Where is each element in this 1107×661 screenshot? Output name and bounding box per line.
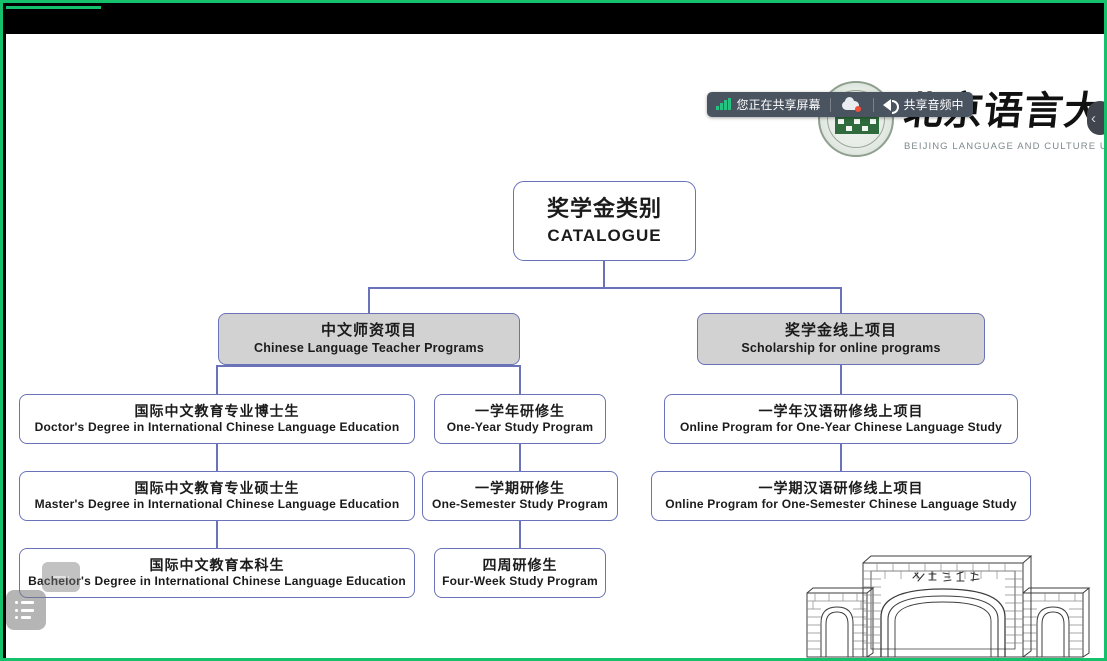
node-title-en: Bachelor's Degree in International Chine… — [28, 575, 406, 589]
node-title-cn: 奖学金类别 — [547, 197, 662, 222]
node-scholarship-online-programs[interactable]: 奖学金线上项目 Scholarship for online programs — [697, 313, 985, 365]
node-title-en: Online Program for One-Year Chinese Lang… — [680, 421, 1002, 435]
node-title-cn: 国际中文教育专业博士生 — [135, 404, 300, 420]
list-row-2 — [15, 609, 37, 612]
list-view-icon[interactable] — [6, 590, 46, 630]
node-online-one-year-program[interactable]: 一学年汉语研修线上项目 Online Program for One-Year … — [664, 394, 1018, 444]
speaker-icon — [883, 99, 898, 111]
list-row-3 — [15, 616, 37, 619]
black-top-bar — [6, 6, 1107, 34]
logo-name-en: BEIJING LANGUAGE AND CULTURE UNIVERSITY — [904, 141, 1104, 152]
share-indicator-segment — [6, 6, 101, 9]
node-title-cn: 国际中文教育本科生 — [150, 558, 285, 574]
node-title-cn: 一学年汉语研修线上项目 — [759, 404, 924, 420]
connector-teacher-left-top — [216, 365, 370, 367]
node-title-cn: 中文师资项目 — [321, 322, 417, 339]
node-title-en: Master's Degree in International Chinese… — [35, 498, 400, 512]
node-chinese-language-teacher-programs[interactable]: 中文师资项目 Chinese Language Teacher Programs — [218, 313, 520, 365]
signal-bars-icon — [716, 99, 731, 110]
share-screen-label: 您正在共享屏幕 — [737, 96, 821, 113]
chevron-left-icon: ‹ — [1091, 110, 1096, 127]
node-title-en: CATALOGUE — [547, 226, 661, 246]
connector-to-teacher — [368, 287, 370, 314]
node-title-en: Doctor's Degree in International Chinese… — [35, 421, 400, 435]
node-title-en: Scholarship for online programs — [741, 341, 940, 355]
collapse-panel-button[interactable]: ‹ — [1087, 101, 1107, 135]
node-catalogue-root[interactable]: 奖学金类别 CATALOGUE — [513, 181, 696, 261]
connector-teacher-mid-top — [368, 365, 521, 367]
node-title-en: One-Year Study Program — [447, 421, 593, 435]
artifact-line — [53, 576, 69, 578]
share-audio-status[interactable]: 共享音频中 — [874, 92, 973, 117]
node-title-cn: 国际中文教育专业硕士生 — [135, 481, 300, 497]
share-screen-status[interactable]: 您正在共享屏幕 — [707, 92, 830, 117]
list-row-1 — [15, 601, 37, 604]
node-masters-degree[interactable]: 国际中文教育专业硕士生 Master's Degree in Internati… — [19, 471, 415, 521]
connector-to-online — [840, 287, 842, 314]
node-one-semester-study-program[interactable]: 一学期研修生 One-Semester Study Program — [422, 471, 618, 521]
node-title-cn: 一学期汉语研修线上项目 — [759, 481, 924, 497]
node-title-cn: 一学年研修生 — [475, 404, 565, 420]
cloud-recording-indicator[interactable] — [831, 92, 873, 117]
node-online-one-semester-program[interactable]: 一学期汉语研修线上项目 Online Program for One-Semes… — [651, 471, 1031, 521]
screen-share-frame: 北京语言大学 BEIJING LANGUAGE AND CULTURE UNIV… — [0, 0, 1107, 661]
presentation-slide: 北京语言大学 BEIJING LANGUAGE AND CULTURE UNIV… — [6, 34, 1107, 661]
node-doctors-degree[interactable]: 国际中文教育专业博士生 Doctor's Degree in Internati… — [19, 394, 415, 444]
node-title-cn: 一学期研修生 — [475, 481, 565, 497]
zoom-share-banner[interactable]: 您正在共享屏幕 共享音频中 — [707, 92, 973, 117]
node-title-en: Four-Week Study Program — [442, 575, 598, 589]
node-one-year-study-program[interactable]: 一学年研修生 One-Year Study Program — [434, 394, 606, 444]
node-four-week-study-program[interactable]: 四周研修生 Four-Week Study Program — [434, 548, 606, 598]
connector-root-horizontal — [368, 287, 842, 289]
drag-artifact-overlay — [42, 562, 80, 592]
connector-root-stem — [603, 261, 605, 288]
node-title-en: Chinese Language Teacher Programs — [254, 341, 484, 355]
campus-gate-illustration — [785, 541, 1105, 661]
node-title-en: One-Semester Study Program — [432, 498, 608, 512]
node-title-cn: 奖学金线上项目 — [785, 322, 897, 339]
cloud-recording-icon — [842, 98, 862, 112]
node-title-cn: 四周研修生 — [483, 558, 558, 574]
list-icon-rows — [15, 601, 37, 619]
node-title-en: Online Program for One-Semester Chinese … — [665, 498, 1017, 512]
share-audio-label: 共享音频中 — [904, 96, 964, 113]
